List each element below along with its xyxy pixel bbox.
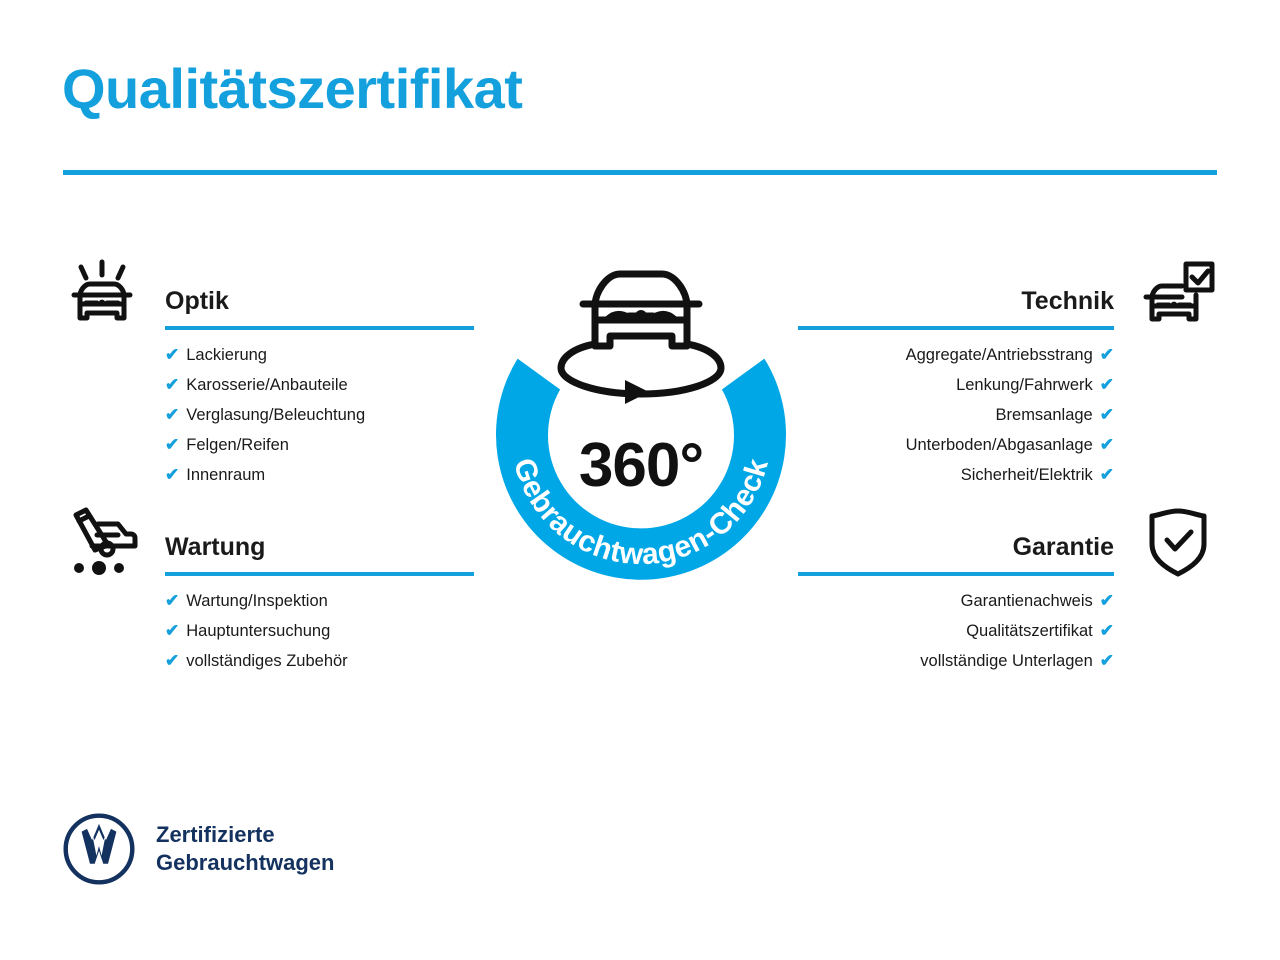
vw-logo — [62, 812, 136, 886]
vw-footer-text: Zertifizierte Gebrauchtwagen — [156, 821, 334, 877]
section-header-technik: Technik — [798, 262, 1218, 330]
vw-footer-line2: Gebrauchtwagen — [156, 849, 334, 877]
check-icon: ✔ — [1100, 430, 1114, 460]
section-garantie: Garantie Garantienachweis✔ Qualitätszert… — [798, 508, 1218, 676]
list-item: Unterboden/Abgasanlage✔ — [798, 430, 1114, 460]
section-divider-garantie — [798, 572, 1114, 576]
section-divider-technik — [798, 326, 1114, 330]
section-header-wartung: Wartung — [62, 508, 474, 576]
list-item: Lenkung/Fahrwerk✔ — [798, 370, 1114, 400]
check-icon: ✔ — [1100, 370, 1114, 400]
car-checkbox-icon — [1138, 256, 1218, 336]
list-item-label: Innenraum — [186, 466, 265, 484]
section-wartung: Wartung ✔Wartung/Inspektion ✔Hauptunters… — [62, 508, 474, 676]
check-icon: ✔ — [165, 340, 179, 370]
section-title-wartung: Wartung — [165, 533, 265, 562]
checklist-garantie: Garantienachweis✔ Qualitätszertifikat✔ v… — [798, 586, 1114, 676]
list-item: ✔Felgen/Reifen — [165, 430, 474, 460]
list-item-label: Lenkung/Fahrwerk — [956, 376, 1093, 394]
page-title: Qualitätszertifikat — [62, 60, 522, 119]
check-icon: ✔ — [165, 646, 179, 676]
section-title-optik: Optik — [165, 287, 229, 316]
check-icon: ✔ — [1100, 586, 1114, 616]
check-icon: ✔ — [165, 400, 179, 430]
rotation-arrow-head — [625, 380, 649, 404]
check-icon: ✔ — [1100, 460, 1114, 490]
list-item-label: Karosserie/Anbauteile — [186, 376, 347, 394]
list-item: vollständige Unterlagen✔ — [798, 646, 1114, 676]
list-item: ✔Karosserie/Anbauteile — [165, 370, 474, 400]
list-item-label: Wartung/Inspektion — [186, 592, 328, 610]
list-item: ✔Hauptuntersuchung — [165, 616, 474, 646]
list-item: Qualitätszertifikat✔ — [798, 616, 1114, 646]
section-header-garantie: Garantie — [798, 508, 1218, 576]
section-header-optik: Optik — [62, 262, 474, 330]
list-item: Sicherheit/Elektrik✔ — [798, 460, 1114, 490]
checklist-optik: ✔Lackierung ✔Karosserie/Anbauteile ✔Verg… — [165, 340, 474, 490]
list-item-label: Verglasung/Beleuchtung — [186, 406, 365, 424]
list-item-label: Aggregate/Antriebsstrang — [906, 346, 1093, 364]
list-item-label: Sicherheit/Elektrik — [961, 466, 1093, 484]
title-divider — [63, 170, 1217, 175]
list-item: Bremsanlage✔ — [798, 400, 1114, 430]
list-item: Aggregate/Antriebsstrang✔ — [798, 340, 1114, 370]
vw-footer-logo-block: Zertifizierte Gebrauchtwagen — [62, 812, 334, 886]
shield-check-icon — [1138, 502, 1218, 582]
check-icon: ✔ — [165, 460, 179, 490]
check-icon: ✔ — [1100, 616, 1114, 646]
checklist-technik: Aggregate/Antriebsstrang✔ Lenkung/Fahrwe… — [798, 340, 1114, 490]
list-item-label: Hauptuntersuchung — [186, 622, 330, 640]
section-divider-wartung — [165, 572, 474, 576]
check-icon: ✔ — [165, 586, 179, 616]
check-icon: ✔ — [1100, 646, 1114, 676]
list-item: ✔vollständiges Zubehör — [165, 646, 474, 676]
check-icon: ✔ — [165, 430, 179, 460]
list-item-label: Lackierung — [186, 346, 267, 364]
list-item: Garantienachweis✔ — [798, 586, 1114, 616]
list-item-label: Unterboden/Abgasanlage — [906, 436, 1093, 454]
badge-number: 360° — [455, 430, 827, 501]
list-item-label: Bremsanlage — [996, 406, 1093, 424]
pencil-car-icon — [62, 502, 142, 582]
car-shine-icon — [62, 256, 142, 336]
section-optik: Optik ✔Lackierung ✔Karosserie/Anbauteile… — [62, 262, 474, 490]
list-item-label: vollständiges Zubehör — [186, 652, 347, 670]
badge-360-check: Gebrauchtwagen-Check 360° — [455, 248, 827, 620]
check-icon: ✔ — [165, 616, 179, 646]
list-item: ✔Innenraum — [165, 460, 474, 490]
checklist-wartung: ✔Wartung/Inspektion ✔Hauptuntersuchung ✔… — [165, 586, 474, 676]
list-item: ✔Lackierung — [165, 340, 474, 370]
check-icon: ✔ — [1100, 340, 1114, 370]
section-title-garantie: Garantie — [1013, 533, 1114, 562]
list-item-label: Felgen/Reifen — [186, 436, 289, 454]
list-item: ✔Verglasung/Beleuchtung — [165, 400, 474, 430]
section-title-technik: Technik — [1021, 287, 1114, 316]
check-icon: ✔ — [165, 370, 179, 400]
vw-footer-line1: Zertifizierte — [156, 821, 334, 849]
list-item: ✔Wartung/Inspektion — [165, 586, 474, 616]
list-item-label: Qualitätszertifikat — [966, 622, 1093, 640]
list-item-label: vollständige Unterlagen — [920, 652, 1092, 670]
section-divider-optik — [165, 326, 474, 330]
section-technik: Technik Aggregate/Antriebsstrang✔ Lenkun… — [798, 262, 1218, 490]
list-item-label: Garantienachweis — [961, 592, 1093, 610]
check-icon: ✔ — [1100, 400, 1114, 430]
